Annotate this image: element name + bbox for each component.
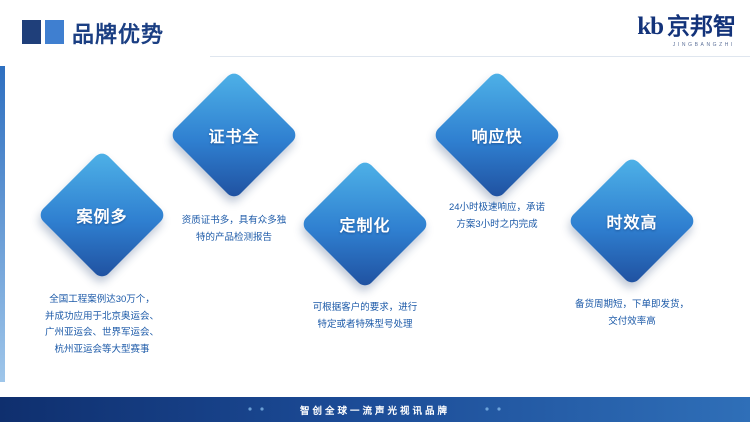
logo-mark: kb [637,14,667,39]
diamond-label-4: 响应快 [451,89,543,181]
page-title: 品牌优势 [72,17,164,49]
light-square-icon [45,20,64,44]
header-decoration [22,20,64,44]
logo-name-cn: 京邦智 [667,15,736,38]
dark-square-icon [22,20,41,44]
diamond-caption-1: 全国工程案例达30万个， 并成功应用于北京奥运会、 广州亚运会、世界军运会、 杭… [16,292,188,359]
diamond-label-3: 定制化 [319,178,411,270]
diamond-label-2: 证书全 [188,89,280,181]
diamond-label-5: 时效高 [586,175,678,267]
footer-tagline: 智创全球一流声光视讯品牌 [0,397,750,422]
logo-subtitle: JINGBANGZHI [673,42,735,48]
slide: 品牌优势 kb 京邦智 JINGBANGZHI 案例多 全国工程案例达30万个，… [0,0,750,422]
diamond-caption-3: 可根据客户的要求，进行 特定或者特殊型号处理 [279,300,451,333]
diamond-caption-5: 备货周期短，下单即发货， 交付效率高 [546,297,718,330]
diamond-caption-4: 24小时极速响应，承诺 方案3小时之内完成 [411,200,583,233]
logo-row: kb 京邦智 [637,14,736,39]
diamond-label-1: 案例多 [56,169,148,261]
left-accent-bar [0,66,5,382]
header-divider [210,56,750,57]
diamond-caption-2: 资质证书多，具有众多独 特的产品检测报告 [148,213,320,246]
logo: kb 京邦智 JINGBANGZHI [637,14,736,48]
